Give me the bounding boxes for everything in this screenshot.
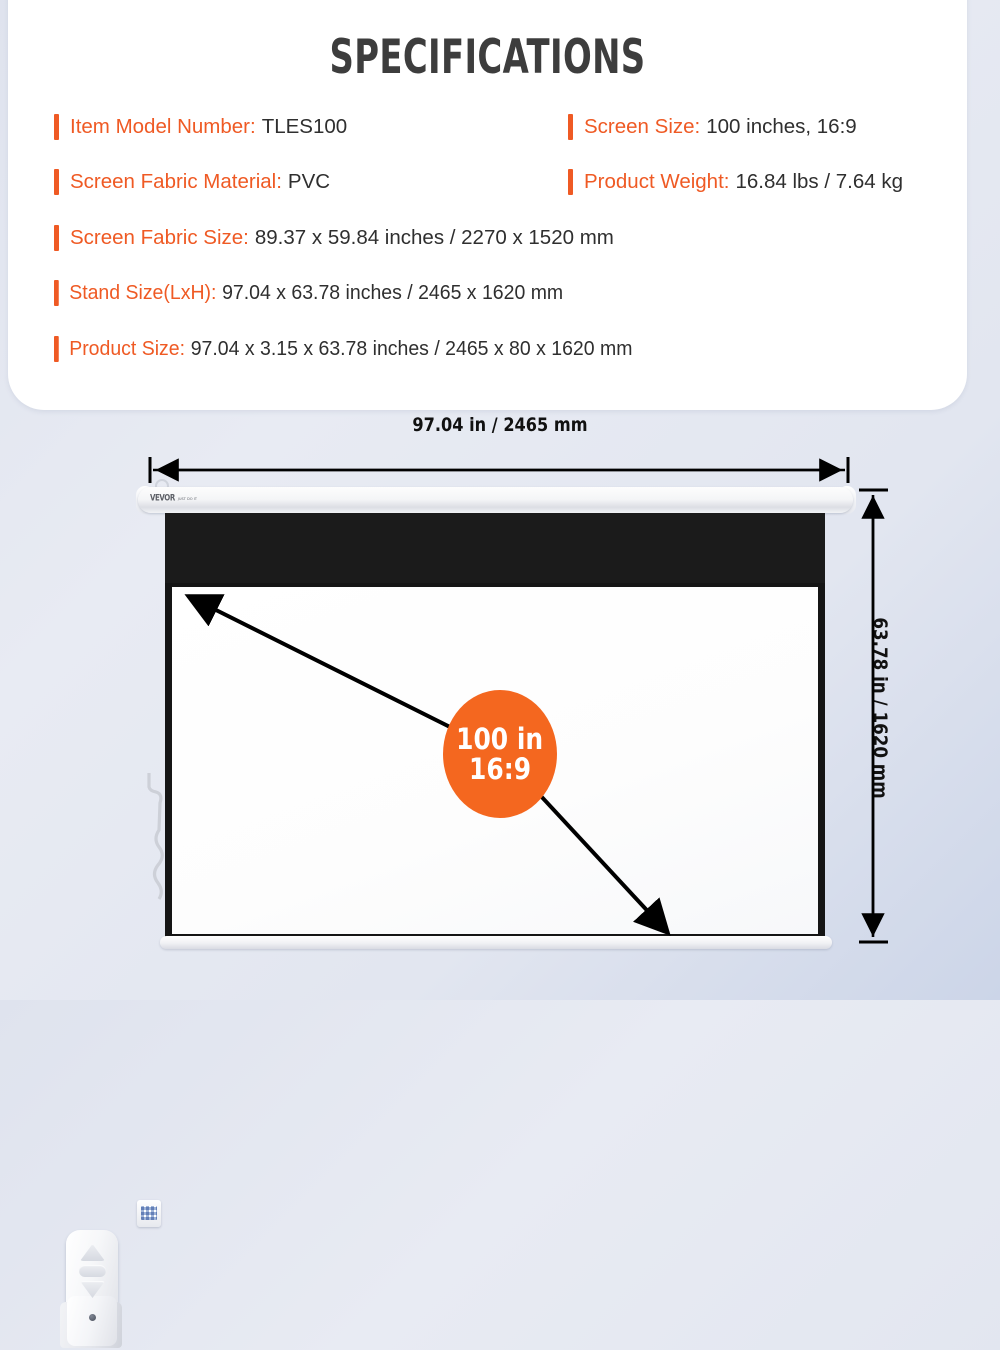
spec-row-screen-fabric-material: Screen Fabric Material: PVC (54, 169, 330, 195)
spec-label: Product Size: (69, 337, 185, 361)
row-marker-bar (568, 114, 573, 140)
spec-label: Stand Size(LxH): (69, 281, 216, 305)
spec-value: 89.37 x 59.84 inches / 2270 x 1520 mm (255, 226, 614, 250)
spec-row-product-weight: Product Weight: 16.84 lbs / 7.64 kg (568, 169, 903, 195)
wall-receiver (137, 1200, 161, 1227)
spec-value: PVC (288, 170, 330, 194)
row-marker-bar (54, 114, 59, 140)
remote-front-panel (67, 1296, 117, 1346)
badge-ratio-line: 16:9 (469, 754, 531, 784)
spec-value: 100 inches, 16:9 (706, 115, 856, 139)
page-title: SPECIFICATIONS (142, 30, 832, 85)
spec-label: Product Weight: (584, 170, 729, 194)
row-marker-bar (54, 225, 59, 251)
spec-row-screen-size: Screen Size: 100 inches, 16:9 (568, 114, 857, 140)
spec-value: 97.04 x 63.78 inches / 2465 x 1620 mm (222, 281, 563, 305)
spec-row-screen-fabric-size: Screen Fabric Size: 89.37 x 59.84 inches… (54, 225, 614, 251)
spec-label: Screen Size: (584, 115, 700, 139)
remote-stop-button[interactable] (79, 1265, 106, 1277)
spec-row-stand-size: Stand Size(LxH): 97.04 x 63.78 inches / … (54, 280, 563, 306)
spec-row-product-size: Product Size: 97.04 x 3.15 x 63.78 inche… (54, 336, 632, 362)
specifications-card: SPECIFICATIONS Item Model Number: TLES10… (8, 0, 967, 410)
spec-label: Item Model Number: (70, 115, 256, 139)
spec-label: Screen Fabric Size: (70, 226, 249, 250)
row-marker-bar (54, 280, 59, 306)
receiver-panel-icon (141, 1206, 157, 1220)
spec-label: Screen Fabric Material: (70, 170, 282, 194)
row-marker-bar (568, 169, 573, 195)
badge-size-line: 100 in (456, 724, 543, 754)
spec-value: 97.04 x 3.15 x 63.78 inches / 2465 x 80 … (191, 337, 633, 361)
row-marker-bar (54, 169, 59, 195)
cable-line (149, 773, 162, 899)
spec-value: TLES100 (262, 115, 347, 139)
remote-led-indicator (89, 1314, 96, 1321)
spec-row-item-model-number: Item Model Number: TLES100 (54, 114, 347, 140)
size-badge: 100 in 16:9 (443, 690, 557, 818)
row-marker-bar (54, 336, 59, 362)
spec-value: 16.84 lbs / 7.64 kg (735, 170, 903, 194)
remote-control (60, 1230, 122, 1350)
